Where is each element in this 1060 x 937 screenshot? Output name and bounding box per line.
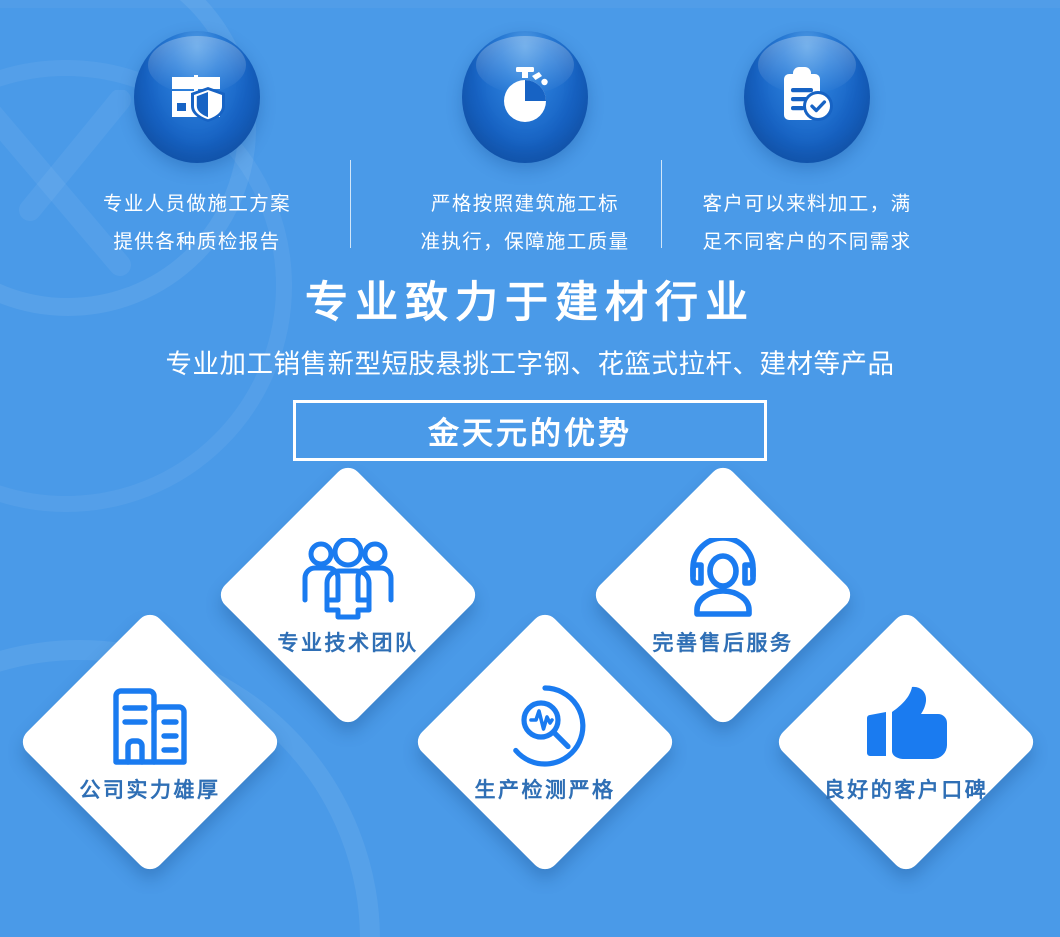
feature-text: 专业人员做施工方案 提供各种质检报告 bbox=[103, 185, 291, 261]
headline-block: 专业致力于建材行业 专业加工销售新型短肢悬挑工字钢、花篮式拉杆、建材等产品 金天… bbox=[0, 276, 1060, 461]
feature-item-custom-processing: 客户可以来料加工，满 足不同客户的不同需求 bbox=[682, 0, 932, 261]
stopwatch-icon bbox=[499, 66, 551, 129]
feature-item-quality-plan: 专业人员做施工方案 提供各种质检报告 bbox=[72, 0, 322, 261]
box-shield-icon bbox=[168, 67, 226, 128]
advantage-label: 生产检测严格 bbox=[475, 774, 616, 804]
promo-banner: 专业人员做施工方案 提供各种质检报告 bbox=[0, 0, 1060, 937]
advantage-banner-label: 金天元的优势 bbox=[428, 408, 632, 453]
feature-line-1: 严格按照建筑施工标 bbox=[420, 185, 629, 223]
advantage-card-technical-team[interactable]: 专业技术团队 bbox=[215, 462, 481, 728]
feature-line-2: 足不同客户的不同需求 bbox=[702, 223, 911, 261]
feature-badge bbox=[462, 31, 588, 163]
advantage-label: 良好的客户口碑 bbox=[824, 774, 989, 804]
team-people-icon bbox=[302, 533, 394, 625]
feature-badge bbox=[134, 31, 260, 163]
feature-line-2: 准执行，保障施工质量 bbox=[420, 223, 629, 261]
feature-line-1: 客户可以来料加工，满 bbox=[702, 185, 911, 223]
clipboard-check-icon bbox=[780, 66, 834, 129]
feature-divider bbox=[350, 160, 351, 248]
advantage-label: 完善售后服务 bbox=[653, 627, 794, 657]
advantage-label: 专业技术团队 bbox=[278, 627, 419, 657]
feature-badge bbox=[744, 31, 870, 163]
feature-line-1: 专业人员做施工方案 bbox=[103, 185, 291, 223]
page-subtitle: 专业加工销售新型短肢悬挑工字钢、花篮式拉杆、建材等产品 bbox=[0, 344, 1060, 384]
page-title: 专业致力于建材行业 bbox=[0, 276, 1060, 330]
building-icon bbox=[107, 680, 193, 772]
feature-line-2: 提供各种质检报告 bbox=[103, 223, 291, 261]
magnifier-pulse-icon bbox=[503, 680, 587, 772]
advantage-card-company-strength[interactable]: 公司实力雄厚 bbox=[17, 609, 283, 875]
advantage-banner: 金天元的优势 bbox=[293, 400, 767, 461]
feature-text: 客户可以来料加工，满 足不同客户的不同需求 bbox=[702, 185, 911, 261]
feature-text: 严格按照建筑施工标 准执行，保障施工质量 bbox=[420, 185, 629, 261]
feature-item-construction-standard: 严格按照建筑施工标 准执行，保障施工质量 bbox=[400, 0, 650, 261]
advantage-diamond-grid: 公司实力雄厚 bbox=[0, 455, 1060, 937]
feature-divider bbox=[661, 160, 662, 248]
advantage-card-reputation[interactable]: 良好的客户口碑 bbox=[773, 609, 1039, 875]
advantage-label: 公司实力雄厚 bbox=[80, 774, 221, 804]
thumbs-up-icon bbox=[864, 680, 948, 772]
headset-support-icon bbox=[679, 533, 767, 625]
feature-strip: 专业人员做施工方案 提供各种质检报告 bbox=[0, 0, 1060, 268]
